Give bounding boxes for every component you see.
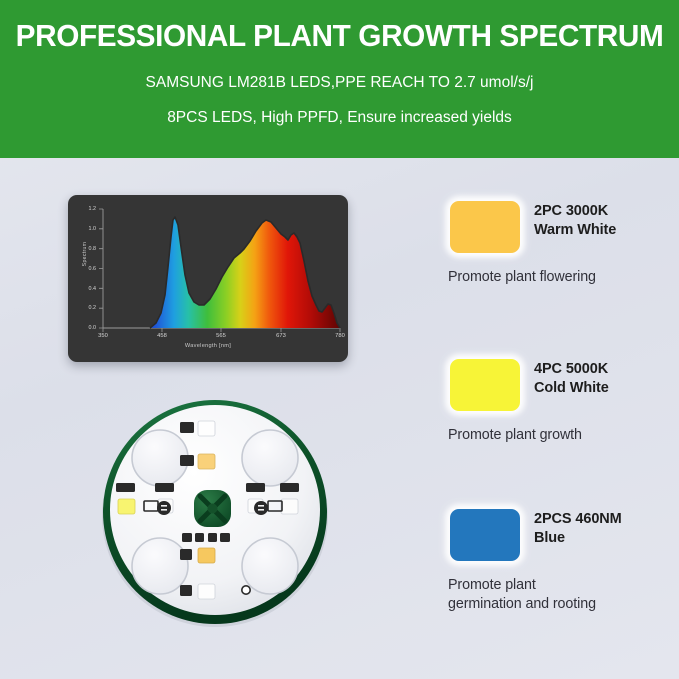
chart-xlabel: Wavelength [nm] <box>68 343 348 349</box>
spectrum-chart-panel: Spectrum Wavelength [nm] 0.0 0.2 0.4 0.6… <box>68 195 348 362</box>
warm-white-label-line1: 2PC 3000K <box>534 202 616 221</box>
chart-xtick-2: 565 <box>206 333 236 339</box>
chart-x-ticks <box>103 328 340 332</box>
chart-ytick-6: 1.2 <box>78 206 96 212</box>
chart-xtick-4: 780 <box>325 333 348 339</box>
chart-xtick-0: 350 <box>88 333 118 339</box>
blue-description: Promote plant germination and rooting <box>448 576 596 613</box>
header-subtitle-1: SAMSUNG LM281B LEDS,PPE REACH TO 2.7 umo… <box>0 74 679 92</box>
spec-card-warm-white: 2PC 3000K Warm White Promote plant flowe… <box>436 190 674 262</box>
blue-swatch <box>450 509 520 561</box>
chart-y-ticks <box>99 209 103 328</box>
warm-white-label: 2PC 3000K Warm White <box>534 202 616 240</box>
warm-white-description: Promote plant flowering <box>448 268 596 287</box>
blue-description-line2: germination and rooting <box>448 595 596 614</box>
board-via-hole <box>242 586 250 594</box>
chart-ytick-2: 0.4 <box>78 286 96 292</box>
led-board-photo <box>98 396 332 628</box>
chart-ytick-1: 0.2 <box>78 305 96 311</box>
chart-xtick-3: 673 <box>266 333 296 339</box>
blue-label-line2: Blue <box>534 529 622 548</box>
chart-ytick-5: 1.0 <box>78 226 96 232</box>
warm-white-swatch <box>450 201 520 253</box>
blue-label: 2PCS 460NM Blue <box>534 510 622 548</box>
cold-white-label: 4PC 5000K Cold White <box>534 360 609 398</box>
cold-white-label-line2: Cold White <box>534 379 609 398</box>
board-center-component <box>194 490 231 527</box>
cold-white-label-line1: 4PC 5000K <box>534 360 609 379</box>
chart-ytick-4: 0.8 <box>78 246 96 252</box>
chart-xtick-1: 458 <box>147 333 177 339</box>
spec-card-cold-white: 4PC 5000K Cold White Promote plant growt… <box>436 348 674 420</box>
product-infographic: PROFESSIONAL PLANT GROWTH SPECTRUM SAMSU… <box>0 0 679 679</box>
chart-ytick-3: 0.6 <box>78 266 96 272</box>
header-subtitle-2: 8PCS LEDS, High PPFD, Ensure increased y… <box>0 109 679 127</box>
header-banner: PROFESSIONAL PLANT GROWTH SPECTRUM SAMSU… <box>0 0 679 158</box>
chart-ylabel: Spectrum <box>82 224 88 284</box>
cold-white-swatch <box>450 359 520 411</box>
spec-card-blue-460nm: 2PCS 460NM Blue Promote plant germinatio… <box>436 498 674 570</box>
blue-label-line1: 2PCS 460NM <box>534 510 622 529</box>
led-board-svg <box>98 396 332 628</box>
spectrum-chart: Spectrum Wavelength [nm] 0.0 0.2 0.4 0.6… <box>68 195 348 362</box>
led-spec-cards: 2PC 3000K Warm White Promote plant flowe… <box>436 176 674 646</box>
cold-white-description: Promote plant growth <box>448 426 582 445</box>
blue-description-line1: Promote plant <box>448 576 596 595</box>
warm-white-label-line2: Warm White <box>534 221 616 240</box>
page-title: PROFESSIONAL PLANT GROWTH SPECTRUM <box>14 20 666 53</box>
chart-ytick-0: 0.0 <box>78 325 96 331</box>
